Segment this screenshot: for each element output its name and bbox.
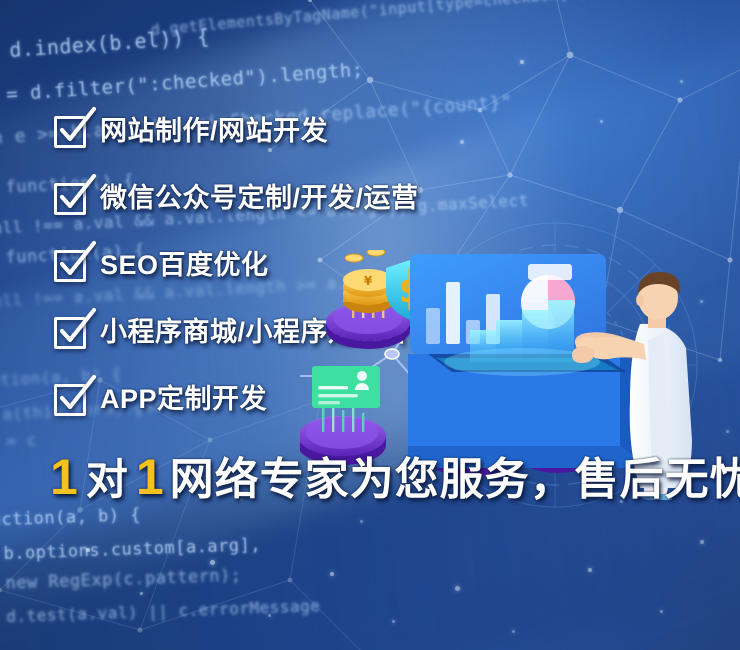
headline: 1 对 1 网络专家为您服务，售后无忧！ xyxy=(48,452,740,502)
checkbox-checked-icon[interactable] xyxy=(54,250,86,282)
checkbox-checked-icon[interactable] xyxy=(54,116,86,148)
checkbox-checked-icon[interactable] xyxy=(54,183,86,215)
code-line: = d.index(b.el)) { xyxy=(0,24,210,64)
list-item-label: APP定制开发 xyxy=(100,386,267,413)
checkbox-checked-icon[interactable] xyxy=(54,384,86,416)
list-item-label: 网站制作/网站开发 xyxy=(100,118,328,145)
headline-tail-text: 网络专家为您服务，售后无忧！ xyxy=(166,458,740,502)
promo-banner: d.getElementsByTagName("input[type=check… xyxy=(0,0,740,650)
dashboard-console xyxy=(408,254,648,468)
list-item-label: 微信公众号定制/开发/运营 xyxy=(100,185,419,212)
headline-word-middle: 对 xyxy=(80,459,134,501)
headline-number-first: 1 xyxy=(48,452,80,502)
checkbox-checked-icon[interactable] xyxy=(54,317,86,349)
id-card-icon xyxy=(300,366,386,465)
headline-number-second: 1 xyxy=(134,452,166,502)
list-item[interactable]: 网站制作/网站开发 xyxy=(54,98,694,165)
list-item-label: SEO百度优化 xyxy=(100,252,269,279)
list-item[interactable]: 微信公众号定制/开发/运营 xyxy=(54,165,694,232)
svg-text:¥: ¥ xyxy=(364,274,373,288)
